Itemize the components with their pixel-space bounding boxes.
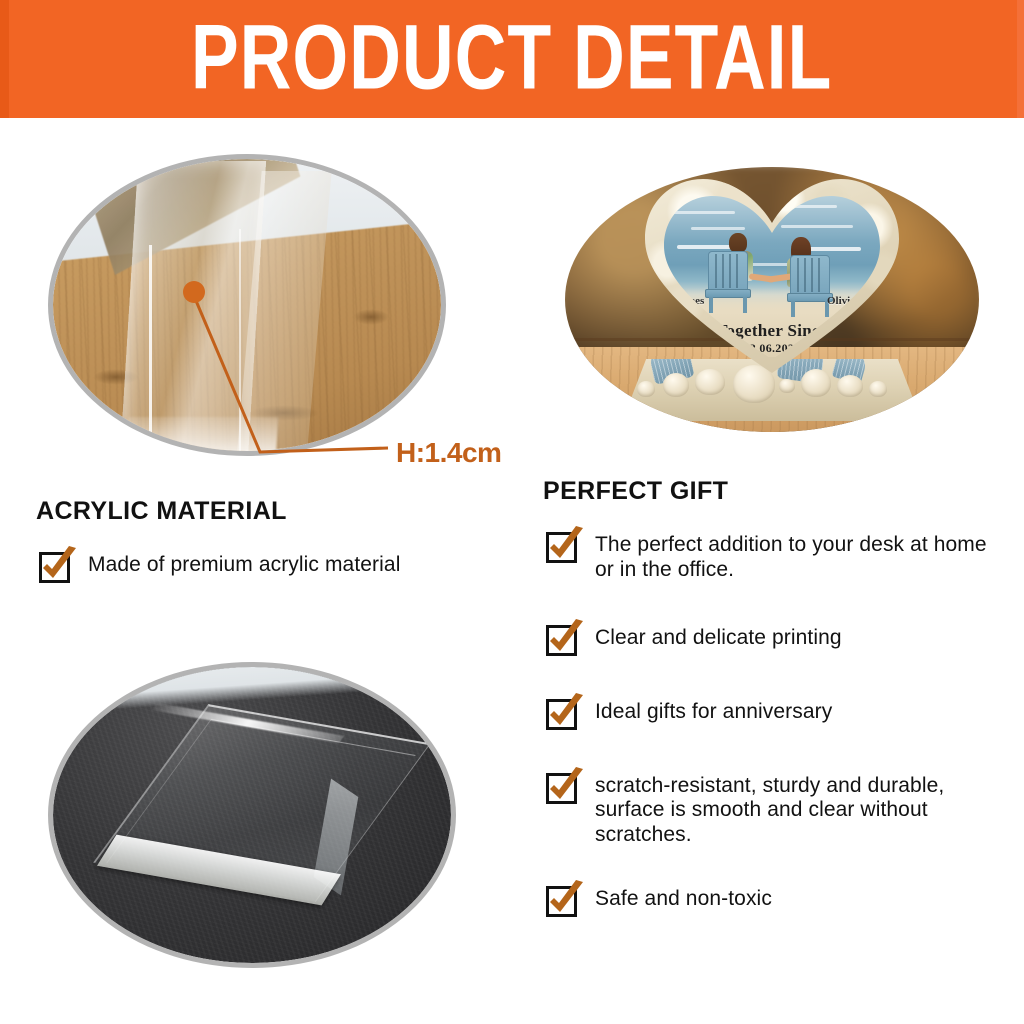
- check-icon: [543, 765, 587, 809]
- wood-table-scene: [53, 159, 441, 451]
- checkbox-checked: [543, 691, 583, 731]
- photo-acrylic-block: [48, 662, 456, 968]
- height-callout-label: H:1.4cm: [396, 437, 501, 469]
- check-icon: [543, 617, 587, 661]
- feature-text: Clear and delicate printing: [583, 617, 842, 651]
- feature-item: Clear and delicate printing: [543, 617, 1011, 657]
- checkbox-checked: [543, 765, 583, 805]
- feature-item: Ideal gifts for anniversary: [543, 691, 1011, 731]
- chair-right: [787, 255, 833, 317]
- feature-text: Ideal gifts for anniversary: [583, 691, 832, 725]
- check-icon: [543, 524, 587, 568]
- check-icon: [543, 878, 587, 922]
- feature-text: Made of premium acrylic material: [76, 544, 400, 578]
- together-since-label: Together Since: [661, 321, 883, 341]
- beach-scene: James Olivia Together Since 02.06.2024: [661, 193, 883, 357]
- person-left-head: [729, 233, 747, 253]
- checkbox-checked: [36, 544, 76, 584]
- page-title: PRODUCT DETAIL: [191, 11, 832, 108]
- chair-left: [705, 251, 751, 313]
- together-since-date: 02.06.2024: [661, 341, 883, 356]
- feature-item: Made of premium acrylic material: [36, 544, 516, 584]
- feature-text: The perfect addition to your desk at hom…: [583, 524, 1011, 583]
- photo-product-heart-plaque: James Olivia Together Since 02.06.2024: [565, 167, 979, 432]
- feature-list-perfect-gift: The perfect addition to your desk at hom…: [543, 524, 1011, 918]
- section-title-acrylic-material: ACRYLIC MATERIAL: [36, 497, 287, 526]
- header-banner: PRODUCT DETAIL: [0, 0, 1024, 118]
- callout-dot: [183, 281, 205, 303]
- product-detail-page: PRODUCT DETAIL: [0, 0, 1024, 1024]
- checkbox-checked: [543, 878, 583, 918]
- checkbox-checked: [543, 524, 583, 564]
- feature-item: The perfect addition to your desk at hom…: [543, 524, 1011, 583]
- feature-item: Safe and non-toxic: [543, 878, 1011, 918]
- feature-text: scratch-resistant, sturdy and durable, s…: [583, 765, 1011, 848]
- heart-plaque: James Olivia Together Since 02.06.2024: [627, 175, 917, 421]
- feature-item: scratch-resistant, sturdy and durable, s…: [543, 765, 1011, 848]
- feature-list-acrylic-material: Made of premium acrylic material: [36, 544, 516, 584]
- section-title-perfect-gift: PERFECT GIFT: [543, 477, 728, 506]
- check-icon: [36, 544, 80, 588]
- photo-acrylic-edge: [48, 154, 446, 456]
- slate-surface-scene: [53, 667, 451, 963]
- check-icon: [543, 691, 587, 735]
- checkbox-checked: [543, 617, 583, 657]
- feature-text: Safe and non-toxic: [583, 878, 772, 912]
